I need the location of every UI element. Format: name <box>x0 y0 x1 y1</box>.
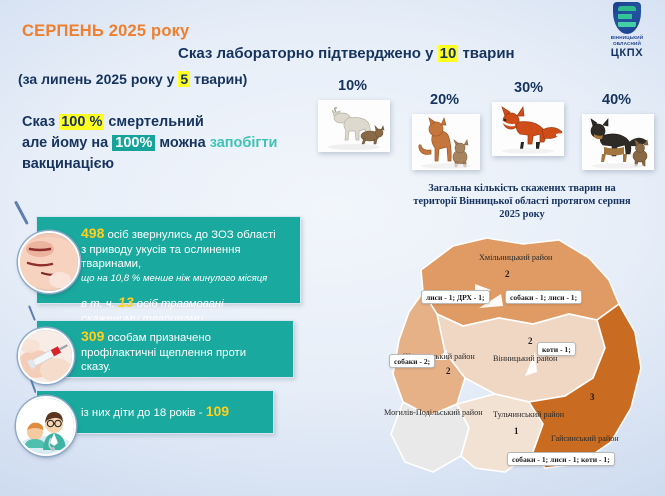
map-count-tulchyn: 1 <box>514 426 519 436</box>
goat-icon <box>318 100 390 152</box>
injured-suffix: осіб травмовані <box>134 298 224 310</box>
logo-subtitle-line1: ВІННИЦЬКИЙ <box>594 35 660 40</box>
map-title-line-2: території Вінницької області протягом се… <box>386 195 658 208</box>
magnifier-handle-2 <box>28 305 36 321</box>
map-callout-haisyn: собаки - 1; лиси - 1; коти - 1; <box>507 452 615 466</box>
lab-prefix: Сказ лабораторно підтверджено у <box>178 45 438 62</box>
stat-box-vaccination: 309 особам призначено профілактичні щепл… <box>36 320 294 378</box>
july-prefix: (за липень 2025 року у <box>18 71 178 87</box>
mortality-suffix: смертельний <box>104 114 203 130</box>
vaccination-line-3: сказу. <box>81 360 285 375</box>
logo-acronym: ЦКПХ <box>594 47 660 59</box>
animal-percent-dog: 40% <box>602 92 631 108</box>
stat-line-4: в т. ч. 13 осіб травмовані <box>81 295 292 312</box>
stat-line-3: що на 10,8 % менше ніж минулого місяця <box>81 272 292 287</box>
map-label-haisyn: Гайсинський район <box>551 434 619 443</box>
prevent-word: запобігти <box>210 135 278 151</box>
shield-icon <box>613 2 641 34</box>
july-comparison-line: (за липень 2025 року у 5 тварин) <box>18 71 247 87</box>
animal-percent-fox: 30% <box>514 80 543 96</box>
map-callout-tulchyn-cats: коти - 1; <box>537 342 576 356</box>
mortality-line-3: вакцинацією <box>22 154 277 175</box>
dog-icon <box>582 114 654 170</box>
vaccination-line1-text: особам призначено <box>104 332 211 344</box>
july-count-highlight: 5 <box>178 71 190 87</box>
organization-logo: ВІННИЦЬКИЙ ОБЛАСНИЙ ЦКПХ <box>594 2 660 64</box>
stat-text-bites: 498 осіб звернулись до ЗОЗ області з при… <box>81 226 292 327</box>
vaccination-line-1: 309 особам призначено <box>81 329 285 346</box>
lab-suffix: тварин <box>458 45 514 62</box>
map-label-tulchyn: Тульчинський район <box>493 410 564 419</box>
mortality-message: Сказ 100 % смертельний але йому на 100% … <box>22 112 277 175</box>
cat-icon <box>412 114 480 170</box>
animal-percent-goat: 10% <box>338 78 367 94</box>
map-title: Загальна кількість скажених тварин на те… <box>386 182 658 222</box>
mortality-percent-highlight: 100 % <box>59 114 104 130</box>
page-title-month: СЕРПЕНЬ 2025 року <box>22 22 189 41</box>
map-count-khmilnyk: 2 <box>505 269 510 279</box>
map-label-mohyliv: Могилів-Подільський район <box>384 408 483 417</box>
map-callout-zhmerynka: собаки - 2; <box>389 354 435 368</box>
july-suffix: тварин) <box>190 71 247 87</box>
stat-line-2: з приводу укусів та ослинення тваринами, <box>81 243 292 272</box>
map-callout-vinnytsia-north: собаки - 1; лиси - 1; <box>505 290 582 304</box>
vaccination-count: 309 <box>81 328 104 344</box>
bites-line1-text: осіб звернулись до ЗОЗ області <box>104 229 275 241</box>
mortality-line-1: Сказ 100 % смертельний <box>22 112 277 133</box>
mortality-prefix: Сказ <box>22 114 59 130</box>
map-label-khmilnyk: Хмільницький район <box>479 253 552 262</box>
stat-text-vaccination: 309 особам призначено профілактичні щепл… <box>81 329 285 375</box>
animal-percent-cat: 20% <box>430 92 459 108</box>
stat-line-1: 498 осіб звернулись до ЗОЗ області <box>81 226 292 243</box>
map-callout-khmilnyk: лиси - 1; ДРХ - 1; <box>421 290 490 304</box>
syringe-photo-icon <box>18 328 74 384</box>
doctor-child-photo-icon <box>16 396 76 456</box>
prevent-prefix: але йому на <box>22 135 112 151</box>
lab-confirmed-line: Сказ лабораторно підтверджено у 10 твари… <box>178 45 515 62</box>
map-title-line-3: 2025 року <box>386 208 658 221</box>
prevent-percent-highlight: 100% <box>112 135 155 151</box>
map-count-vinnytsia: 2 <box>528 336 533 346</box>
children-text: із них діти до 18 років - <box>81 407 206 419</box>
injured-prefix: в т. ч. <box>81 298 118 310</box>
map-title-line-1: Загальна кількість скажених тварин на <box>386 182 658 195</box>
map-count-haisyn: 3 <box>590 392 595 402</box>
magnifier-handle-1 <box>14 201 28 225</box>
infographic-canvas: ВІННИЦЬКИЙ ОБЛАСНИЙ ЦКПХ СЕРПЕНЬ 2025 ро… <box>0 0 665 496</box>
bites-count: 498 <box>81 225 104 241</box>
bite-wound-photo-icon <box>18 231 80 293</box>
vaccination-line-2: профілактичні щеплення проти <box>81 346 285 361</box>
mortality-line-2: але йому на 100% можна запобігти <box>22 133 277 154</box>
stat-text-children: із них діти до 18 років - 109 <box>81 404 265 421</box>
district-khmilnyk <box>421 238 619 326</box>
children-count: 109 <box>206 403 229 419</box>
prevent-middle: можна <box>155 135 209 151</box>
map-count-zhmerynka: 2 <box>446 366 451 376</box>
lab-count-highlight: 10 <box>438 45 459 62</box>
vinnytsia-region-map: Хмільницький район 2 Вінницький район 2 … <box>383 228 665 490</box>
fox-icon <box>492 102 564 156</box>
injured-count: 13 <box>118 294 134 310</box>
